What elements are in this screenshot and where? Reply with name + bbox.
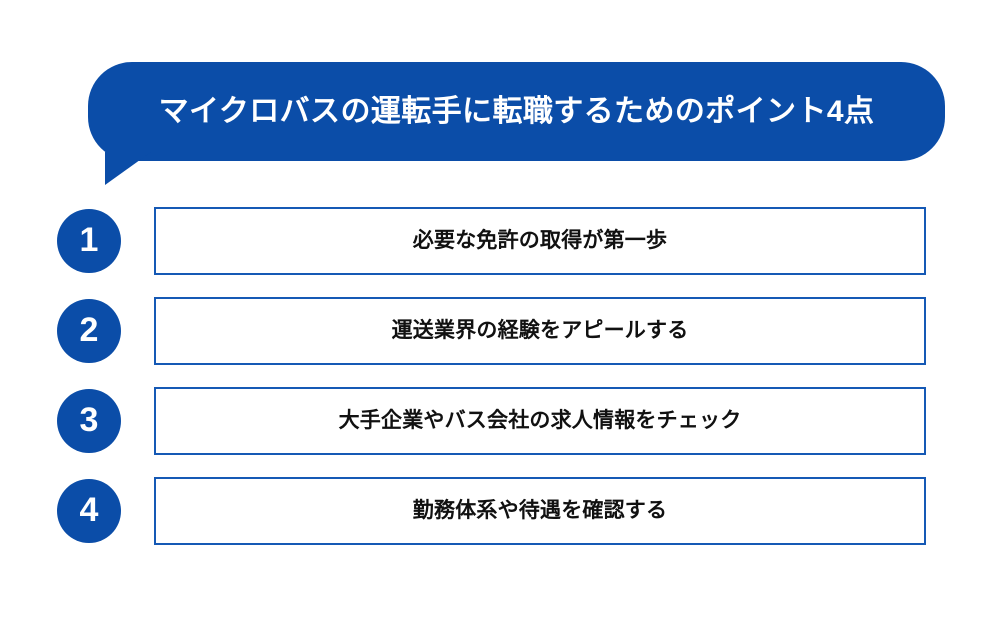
title-bubble-body: マイクロバスの運転手に転職するためのポイント4点 <box>88 62 945 161</box>
step-number-badge-2: 2 <box>57 299 121 363</box>
speech-bubble-tail-icon <box>105 152 151 185</box>
step-label: 運送業界の経験をアピールする <box>392 318 689 343</box>
title-speech-bubble: マイクロバスの運転手に転職するためのポイント4点 <box>88 62 945 185</box>
list-item: 2 運送業界の経験をアピールする <box>0 297 1000 365</box>
step-label: 勤務体系や待遇を確認する <box>413 498 667 523</box>
step-label: 必要な免許の取得が第一歩 <box>413 228 667 253</box>
step-number-label: 2 <box>80 313 99 347</box>
list-item: 1 必要な免許の取得が第一歩 <box>0 207 1000 275</box>
step-content-box-1: 必要な免許の取得が第一歩 <box>154 207 926 275</box>
step-content-box-4: 勤務体系や待遇を確認する <box>154 477 926 545</box>
page-title: マイクロバスの運転手に転職するためのポイント4点 <box>159 95 875 128</box>
step-number-label: 1 <box>80 223 99 257</box>
step-label: 大手企業やバス会社の求人情報をチェック <box>339 408 742 433</box>
list-item: 3 大手企業やバス会社の求人情報をチェック <box>0 387 1000 455</box>
step-number-badge-3: 3 <box>57 389 121 453</box>
list-item: 4 勤務体系や待遇を確認する <box>0 477 1000 545</box>
step-number-label: 3 <box>80 403 99 437</box>
step-content-box-2: 運送業界の経験をアピールする <box>154 297 926 365</box>
step-content-box-3: 大手企業やバス会社の求人情報をチェック <box>154 387 926 455</box>
step-number-badge-1: 1 <box>57 209 121 273</box>
infographic-canvas: マイクロバスの運転手に転職するためのポイント4点 1 必要な免許の取得が第一歩 … <box>0 0 1000 625</box>
step-number-badge-4: 4 <box>57 479 121 543</box>
step-number-label: 4 <box>80 493 99 527</box>
steps-list: 1 必要な免許の取得が第一歩 2 運送業界の経験をアピールする 3 大手企業やバ… <box>0 207 1000 545</box>
